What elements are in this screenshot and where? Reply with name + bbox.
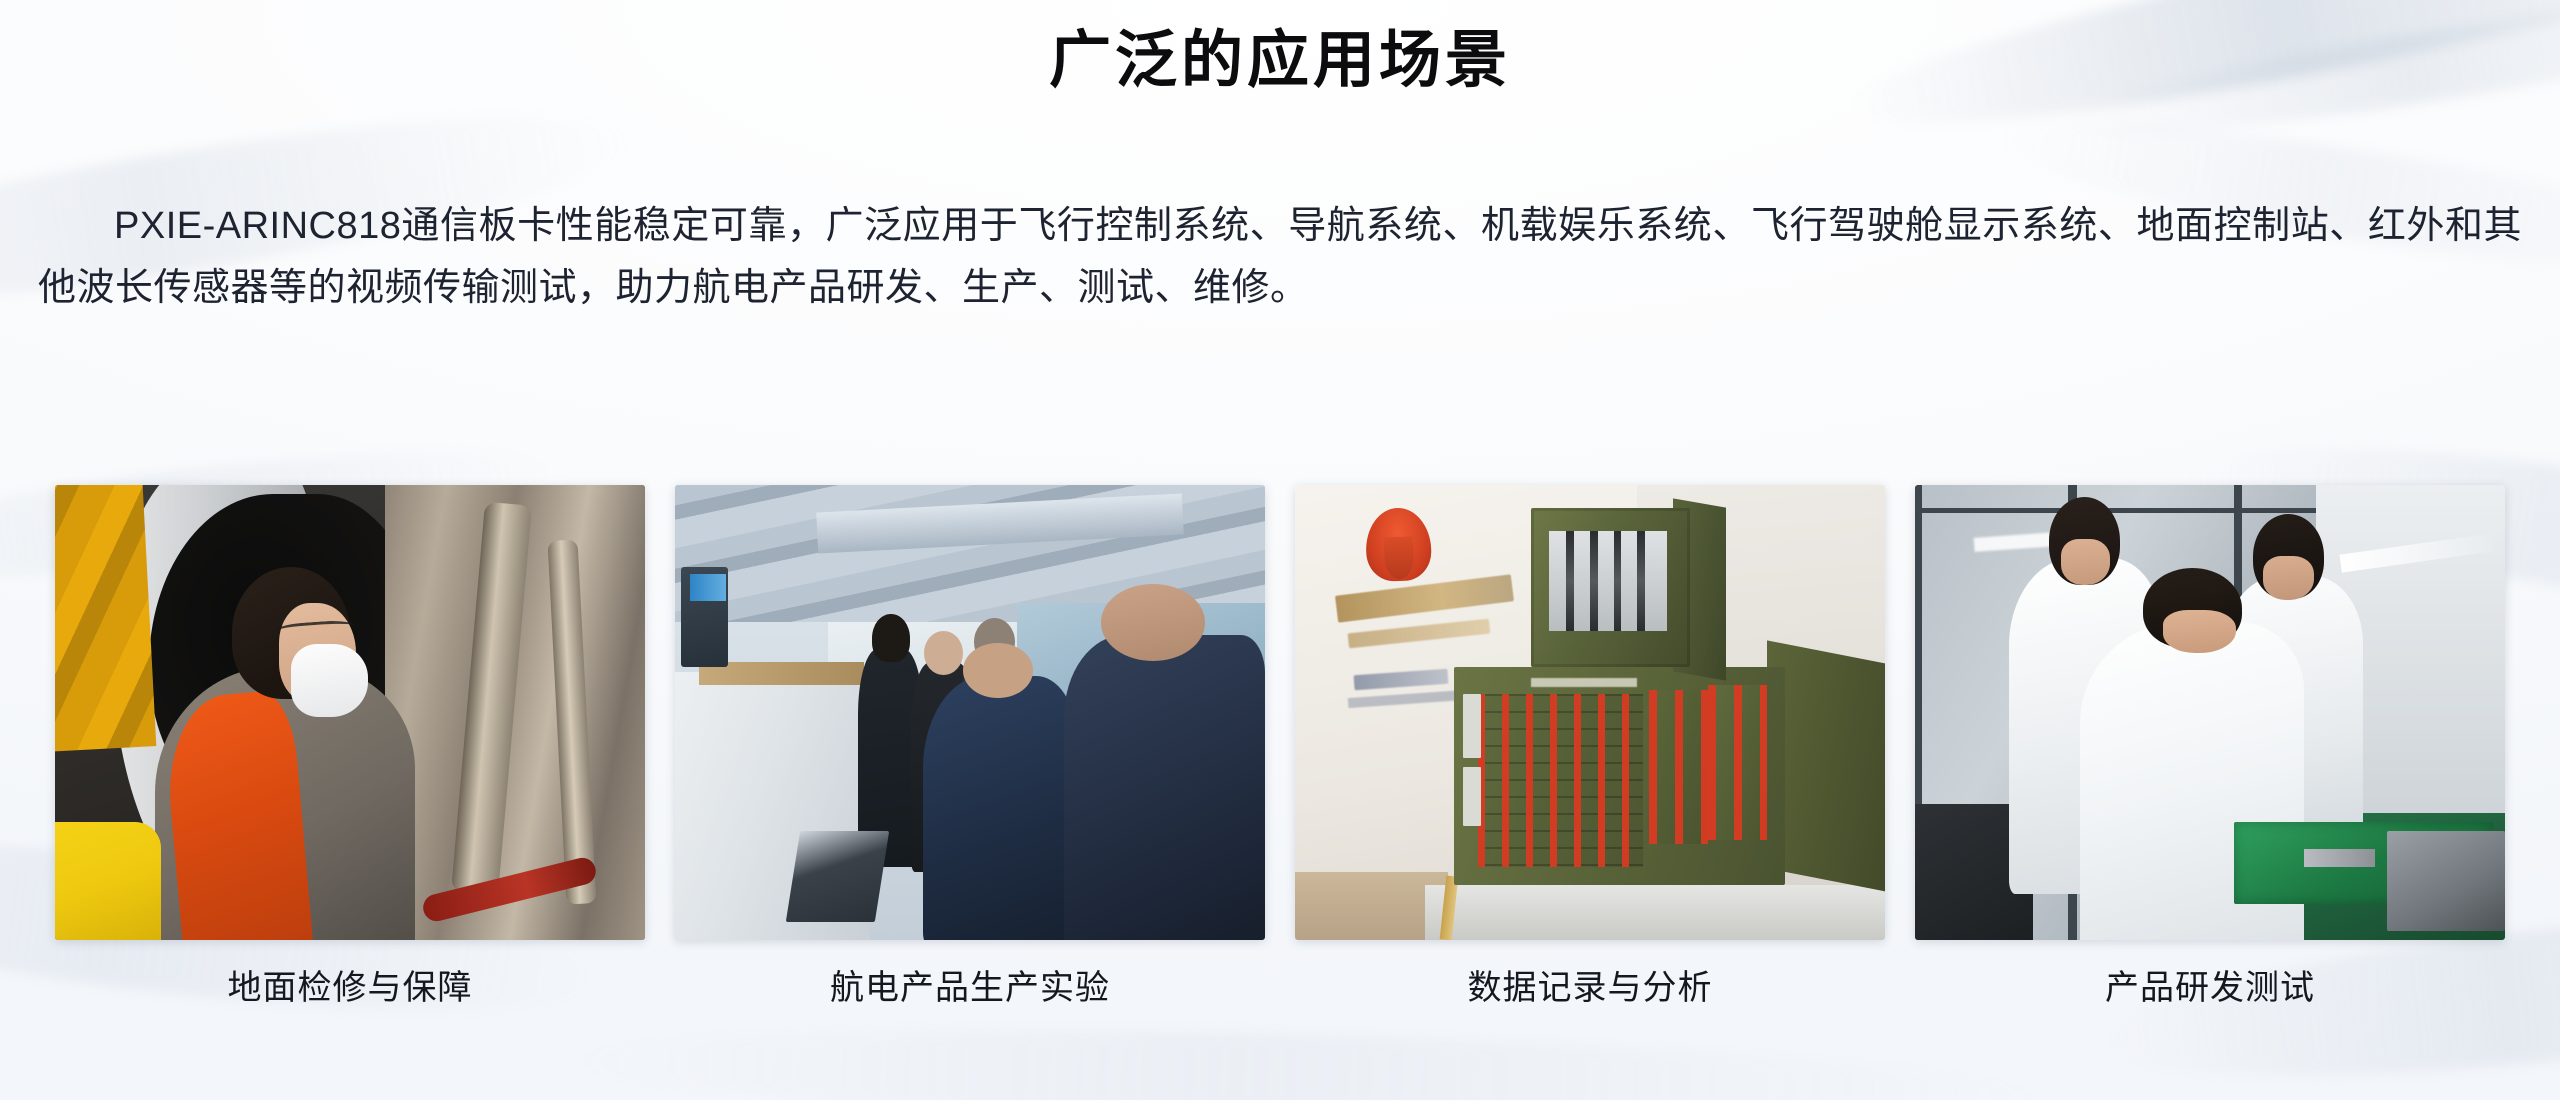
connector-array-tertiary-shape <box>1708 685 1767 840</box>
scenario-card[interactable]: 航电产品生产实验 <box>675 485 1265 1045</box>
person-bending-over-laptop-shape <box>923 676 1076 940</box>
chassis-card-slot-4-shape <box>1637 531 1645 631</box>
intro-paragraph: PXIE-ARINC818通信板卡性能稳定可靠，广泛应用于飞行控制系统、导航系统… <box>38 196 2522 319</box>
scenario-caption: 产品研发测试 <box>2105 968 2315 1009</box>
scenario-caption: 数据记录与分析 <box>1468 968 1713 1009</box>
intro-text: PXIE-ARINC818通信板卡性能稳定可靠，广泛应用于飞行控制系统、导航系统… <box>38 205 2522 309</box>
glass-mullion-top-shape <box>1915 508 2328 513</box>
chassis-panel-label-shape <box>1531 678 1637 687</box>
chassis-card-slot-2-shape <box>1590 531 1598 631</box>
control-panel-label-shape <box>690 574 725 601</box>
chassis-card-slot-1-shape <box>1566 531 1574 631</box>
scenario-photo-production-experiment <box>675 485 1265 940</box>
scenario-photo-rd-testing <box>1915 485 2505 940</box>
chassis-card-slot-3-shape <box>1614 531 1622 631</box>
test-fixture-shape <box>2387 831 2505 931</box>
scenario-photo-ground-maintenance <box>55 485 645 940</box>
page-title: 广泛的应用场景 <box>0 22 2560 100</box>
laptop-shape <box>786 831 889 922</box>
application-scenarios-page: 广泛的应用场景 PXIE-ARINC818通信板卡性能稳定可靠，广泛应用于飞行控… <box>0 0 2560 1100</box>
board-connector-shape <box>2304 849 2375 867</box>
yellow-scaffold-shape <box>55 485 157 751</box>
yellow-equipment-stand-shape <box>55 822 161 940</box>
scenario-card-list: 地面检修与保障 航电产品生产实验 <box>55 485 2525 1045</box>
scenario-card[interactable]: 数据记录与分析 <box>1295 485 1885 1045</box>
scenario-card[interactable]: 产品研发测试 <box>1915 485 2505 1045</box>
scenario-card[interactable]: 地面检修与保障 <box>55 485 645 1045</box>
face-mask-shape <box>291 644 368 717</box>
scenario-caption: 航电产品生产实验 <box>830 968 1110 1009</box>
bench-table-shape <box>1425 885 1885 940</box>
chassis-handle-upper-shape <box>1463 694 1481 758</box>
chassis-handle-lower-shape <box>1463 767 1481 826</box>
connector-array-secondary-shape <box>1649 690 1708 845</box>
scenario-photo-data-recording <box>1295 485 1885 940</box>
connector-array-main-shape <box>1478 694 1643 867</box>
person-foreground-shape <box>1064 635 1265 940</box>
scenario-caption: 地面检修与保障 <box>228 968 473 1009</box>
chassis-side-panel-shape <box>1767 641 1885 894</box>
